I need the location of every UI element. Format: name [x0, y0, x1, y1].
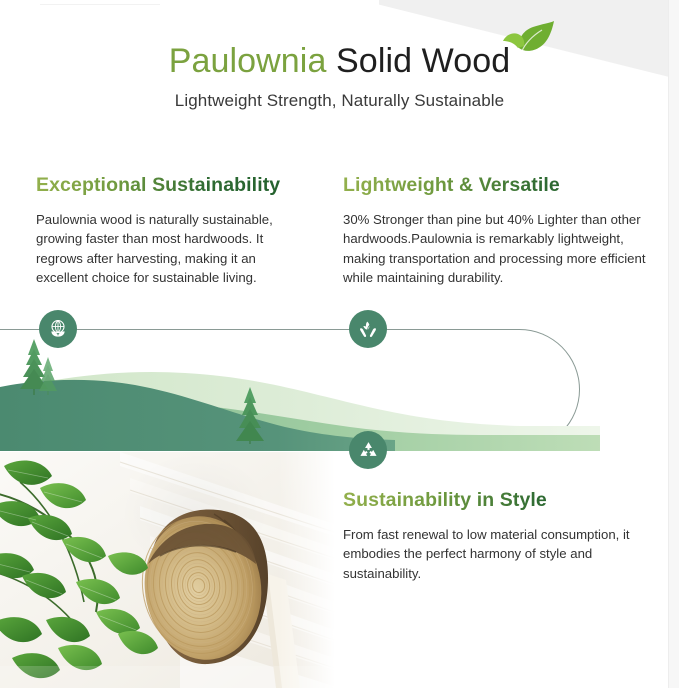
page-subtitle: Lightweight Strength, Naturally Sustaina… [0, 91, 679, 111]
hands-sprout-icon [349, 310, 387, 348]
feature-heading-style: Sustainability in Style [343, 489, 658, 512]
feature-block-sustainability: Exceptional Sustainability Paulownia woo… [36, 174, 311, 288]
recycle-icon [349, 431, 387, 469]
capsule-band-outline [0, 329, 580, 450]
feature-block-lightweight: Lightweight & Versatile 30% Stronger tha… [343, 174, 663, 288]
title-word-rest: Solid Wood [326, 42, 510, 80]
leaf-icon [498, 18, 556, 62]
feature-body-sustainability: Paulownia wood is naturally sustainable,… [36, 210, 311, 288]
poster-header: Paulownia Solid Wood Lightweight Strengt… [0, 0, 679, 111]
feature-heading-lightweight: Lightweight & Versatile [343, 174, 663, 197]
wood-log-photo [0, 452, 340, 688]
title-word-brand: Paulownia [169, 42, 327, 80]
feature-heading-sustainability: Exceptional Sustainability [36, 174, 311, 197]
feature-body-style: From fast renewal to low material consum… [343, 525, 658, 583]
page-title: Paulownia Solid Wood [169, 44, 511, 78]
feature-block-style: Sustainability in Style From fast renewa… [343, 489, 658, 583]
title-row: Paulownia Solid Wood [169, 44, 511, 78]
infographic-poster: Paulownia Solid Wood Lightweight Strengt… [0, 0, 679, 688]
feature-body-lightweight: 30% Stronger than pine but 40% Lighter t… [343, 210, 663, 288]
globe-leaf-icon [39, 310, 77, 348]
photo-right-fade [278, 452, 340, 688]
